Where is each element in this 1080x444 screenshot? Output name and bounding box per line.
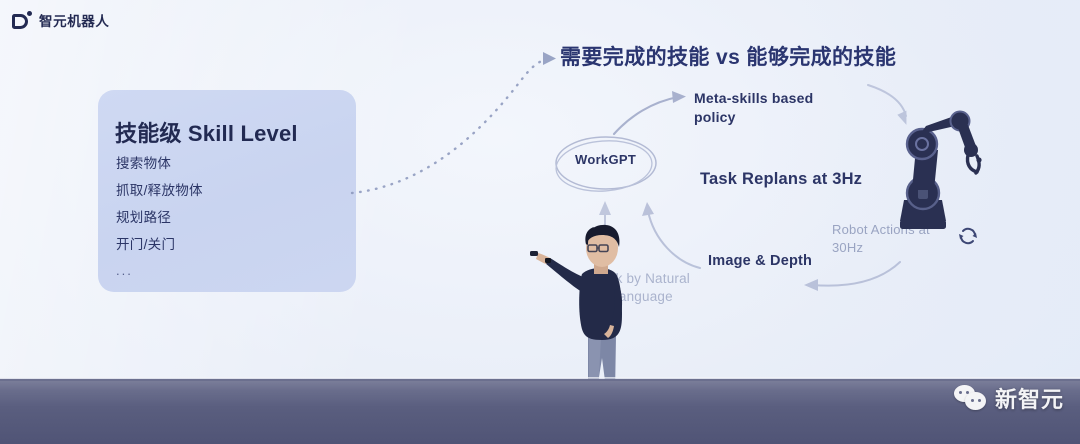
wechat-icon xyxy=(954,385,987,412)
stage-floor-sheen xyxy=(0,381,1080,407)
dotted-arrow-icon xyxy=(352,52,556,193)
task-replans-label: Task Replans at 3Hz xyxy=(700,170,862,189)
watermark: 新智元 xyxy=(954,382,1064,414)
robot-arm-icon xyxy=(876,108,988,240)
arrow-to-meta-skills xyxy=(614,91,686,134)
workgpt-node-label: WorkGPT xyxy=(575,152,636,167)
meta-skills-label: Meta-skills based policy xyxy=(694,89,824,127)
refresh-loop-icon xyxy=(957,225,979,247)
watermark-text: 新智元 xyxy=(995,382,1064,414)
screenshot-root: 智元机器人 技能级 Skill Level 搜索物体 抓取/释放物体 规划路径 … xyxy=(0,0,1080,444)
image-depth-label: Image & Depth xyxy=(708,252,812,272)
arrow-robot-actions xyxy=(804,262,900,291)
